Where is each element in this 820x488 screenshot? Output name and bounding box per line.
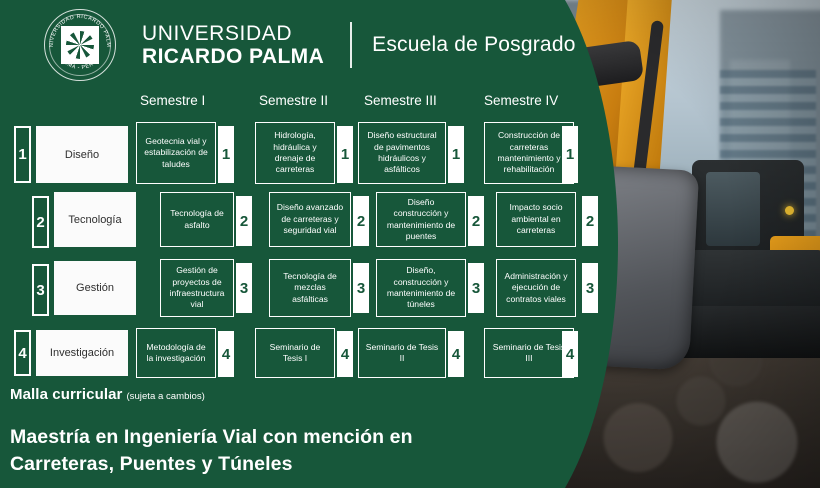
course-s4-r4-credits: 4: [562, 331, 578, 377]
course-s1-r2[interactable]: Tecnología de asfalto: [160, 192, 234, 247]
course-s3-r2-credits: 2: [468, 196, 484, 246]
course-s4-r3[interactable]: Administración y ejecución de contratos …: [496, 259, 576, 317]
row-3-area-tag: 3: [32, 264, 49, 316]
malla-label: Malla curricular: [10, 386, 122, 403]
malla-note: (sujeta a cambios): [126, 391, 204, 402]
poster-canvas: UNIVERSIDAD RICARDO PALMA LIMA - PERU UN…: [0, 0, 820, 488]
course-s2-r2[interactable]: Diseño avanzado de carreteras y segurida…: [269, 192, 351, 247]
course-s4-r1[interactable]: Construcción de carreteras mantenimiento…: [484, 122, 574, 184]
course-s3-r2[interactable]: Diseño construcción y mantenimiento de p…: [376, 192, 466, 247]
program-title-line-1: Maestría en Ingeniería Vial con mención …: [10, 424, 413, 451]
course-s4-r2-credits: 2: [582, 196, 598, 246]
row-4-area-tag: 4: [14, 330, 31, 376]
semester-header-1: Semestre I: [140, 93, 205, 108]
course-s2-r2-credits: 2: [353, 196, 369, 246]
program-title-line-2: Carreteras, Puentes y Túneles: [10, 451, 413, 478]
course-s4-r2[interactable]: Impacto socio ambiental en carreteras: [496, 192, 576, 247]
course-s2-r1-credits: 1: [337, 126, 353, 183]
course-s1-r4-credits: 4: [218, 331, 234, 377]
school-name: Escuela de Posgrado: [372, 33, 575, 57]
university-seal-icon: UNIVERSIDAD RICARDO PALMA LIMA - PERU: [44, 9, 116, 81]
row-1-area-tag: 1: [14, 126, 31, 183]
wordmark-line-1: UNIVERSIDAD: [142, 23, 324, 44]
course-s2-r3[interactable]: Tecnología de mezclas asfálticas: [269, 259, 351, 317]
course-s3-r3-credits: 3: [468, 263, 484, 313]
course-s2-r3-credits: 3: [353, 263, 369, 313]
header-divider: [350, 22, 352, 68]
course-s1-r1-credits: 1: [218, 126, 234, 183]
course-s2-r4-credits: 4: [337, 331, 353, 377]
semester-header-2: Semestre II: [259, 93, 328, 108]
course-s1-r4[interactable]: Metodología de la investigación: [136, 328, 216, 378]
course-s3-r3[interactable]: Diseño, construcción y mantenimiento de …: [376, 259, 466, 317]
course-s2-r4[interactable]: Seminario de Tesis I: [255, 328, 335, 378]
malla-curricular-caption: Malla curricular(sujeta a cambios): [10, 386, 205, 404]
semester-header-3: Semestre III: [364, 93, 437, 108]
university-wordmark: UNIVERSIDAD RICARDO PALMA: [142, 23, 324, 67]
course-s3-r1[interactable]: Diseño estructural de pavimentos hidrául…: [358, 122, 446, 184]
row-2-area-box: Tecnología: [54, 192, 136, 247]
course-s1-r2-credits: 2: [236, 196, 252, 246]
row-4-area-box: Investigación: [36, 330, 128, 376]
program-title: Maestría en Ingeniería Vial con mención …: [10, 424, 413, 478]
course-s4-r4[interactable]: Seminario de Tesis III: [484, 328, 574, 378]
brand-header: UNIVERSIDAD RICARDO PALMA LIMA - PERU UN…: [44, 9, 576, 81]
curriculum-content: UNIVERSIDAD RICARDO PALMA LIMA - PERU UN…: [0, 0, 620, 488]
course-s1-r1[interactable]: Geotecnia vial y estabilización de talud…: [136, 122, 216, 184]
course-s3-r1-credits: 1: [448, 126, 464, 183]
course-s1-r3[interactable]: Gestión de proyectos de infraestructura …: [160, 259, 234, 317]
row-3-area-box: Gestión: [54, 261, 136, 315]
course-s3-r4-credits: 4: [448, 331, 464, 377]
seal-emblem: [61, 26, 99, 64]
row-2-area-tag: 2: [32, 196, 49, 248]
course-s3-r4[interactable]: Seminario de Tesis II: [358, 328, 446, 378]
semester-header-4: Semestre IV: [484, 93, 558, 108]
row-1-area-box: Diseño: [36, 126, 128, 183]
course-s2-r1[interactable]: Hidrología, hidráulica y drenaje de carr…: [255, 122, 335, 184]
course-s4-r3-credits: 3: [582, 263, 598, 313]
wordmark-line-2: RICARDO PALMA: [142, 46, 324, 67]
course-s4-r1-credits: 1: [562, 126, 578, 183]
course-s1-r3-credits: 3: [236, 263, 252, 313]
